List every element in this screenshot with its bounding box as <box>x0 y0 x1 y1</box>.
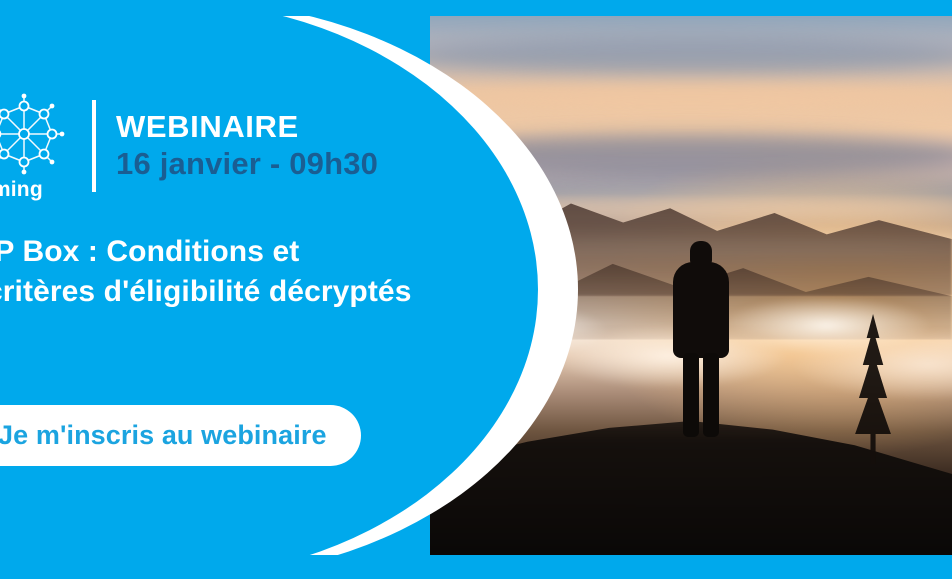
hiker-leg-left <box>683 353 699 437</box>
banner-header: yming WEBINAIRE 16 janvier - 09h30 <box>0 92 378 200</box>
webinar-promo-banner: yming WEBINAIRE 16 janvier - 09h30 IP Bo… <box>0 0 952 579</box>
hiker-torso <box>673 262 729 358</box>
header-divider <box>92 100 96 192</box>
hiker-leg-right <box>703 353 719 437</box>
brand-logo: yming <box>0 92 66 200</box>
webinar-date: 16 janvier - 09h30 <box>116 146 378 182</box>
cloud-streak <box>430 37 952 75</box>
banner-content: yming WEBINAIRE 16 janvier - 09h30 IP Bo… <box>0 0 470 579</box>
hiker-silhouette <box>670 241 732 437</box>
brand-wordmark: yming <box>0 179 43 200</box>
page-title: IP Box : Conditions et critères d'éligib… <box>0 232 416 311</box>
register-webinar-button[interactable]: Je m'inscris au webinaire <box>0 405 361 466</box>
header-titles: WEBINAIRE 16 janvier - 09h30 <box>116 110 378 182</box>
webinar-kicker: WEBINAIRE <box>116 110 378 144</box>
cloud-streak <box>430 85 952 112</box>
network-nodes-icon <box>0 92 66 176</box>
